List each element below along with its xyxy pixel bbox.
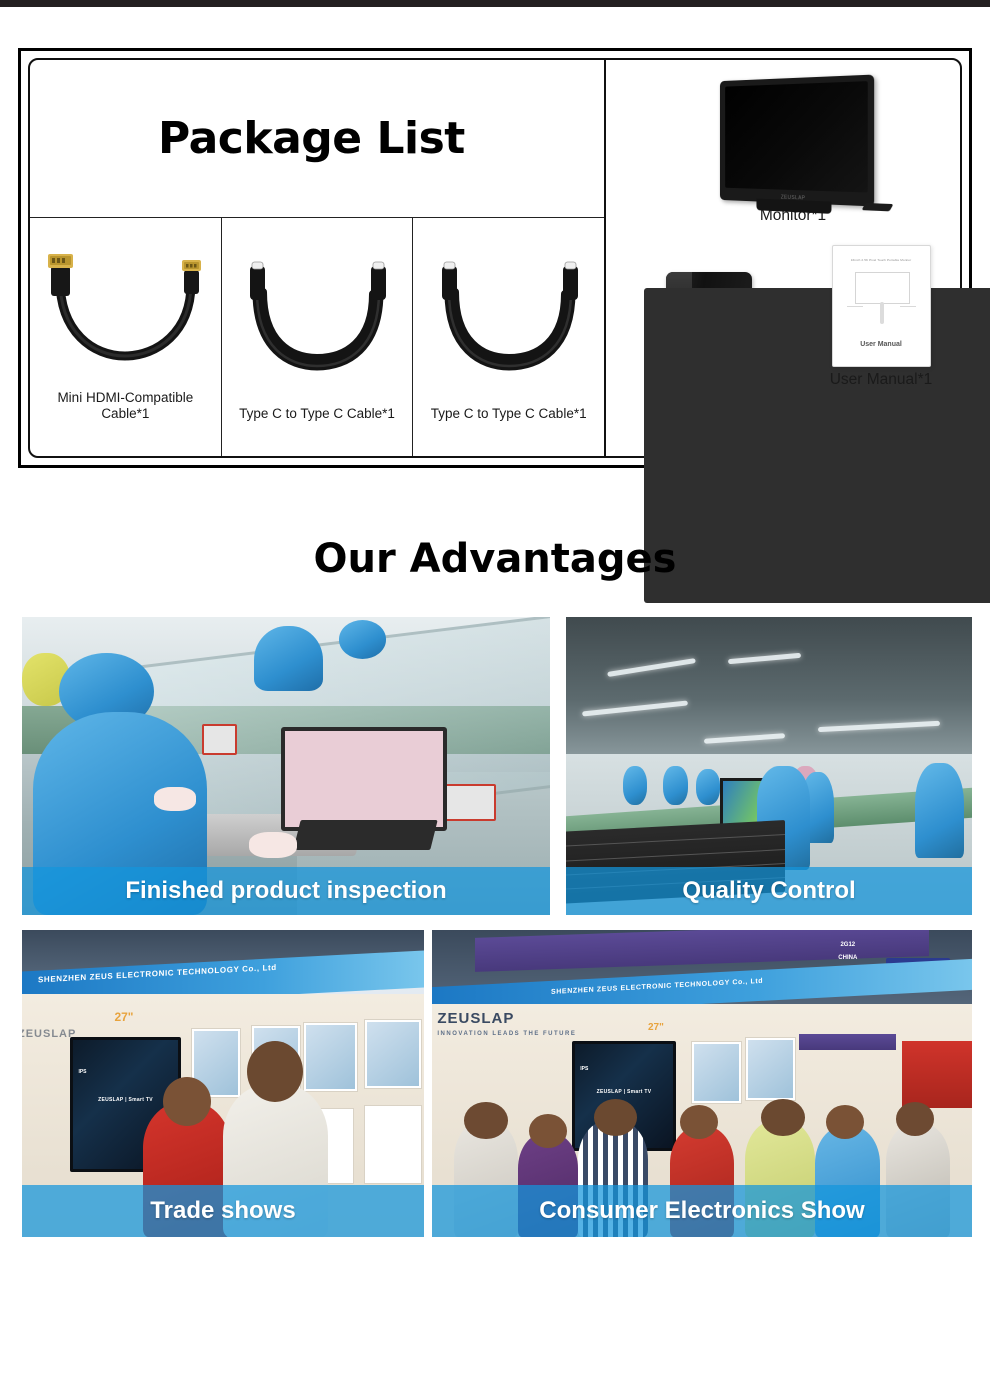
package-item-typec-cable-1: Type C to Type C Cable*1 — [221, 218, 413, 456]
hdmi-cable-icon — [30, 218, 221, 390]
package-item-typec-cable-2: Type C to Type C Cable*1 — [412, 218, 604, 456]
booth-spec-badge: IPS — [78, 1069, 86, 1075]
package-item-label: Type C to Type C Cable*1 — [235, 406, 399, 444]
photo-caption: Consumer Electronics Show — [432, 1185, 972, 1237]
manual-cover-subtitle: 16inch 2.5K Pixel Touch Portable Monitor — [833, 258, 930, 262]
package-item-label: Type C to Type C Cable*1 — [427, 406, 591, 444]
advantage-photo-trade-shows: SHENZHEN ZEUS ELECTRONIC TECHNOLOGY Co.,… — [22, 930, 424, 1237]
package-list-left-column: Package List — [30, 60, 606, 456]
package-list-right-column: ZEUSLAP Monitor*1 Charger*1 16i — [606, 60, 960, 456]
monitor-icon: ZEUSLAP — [720, 75, 874, 207]
booth-brand-logo: ZEUSLAP — [437, 1010, 514, 1027]
booth-size-badge: 27" — [114, 1010, 133, 1024]
photo-caption: Finished product inspection — [22, 867, 550, 915]
advantage-photo-finished-product-inspection: Finished product inspection — [22, 617, 550, 915]
package-list-panel: Package List — [18, 48, 972, 468]
package-list-title-row: Package List — [30, 60, 604, 218]
package-item-monitor: ZEUSLAP Monitor*1 — [698, 78, 888, 225]
package-list-inner-frame: Package List — [28, 58, 962, 458]
manual-icon: 16inch 2.5K Pixel Touch Portable Monitor… — [832, 245, 931, 367]
photo-caption: Quality Control — [566, 867, 972, 915]
package-item-charger: Charger*1 — [616, 260, 776, 377]
manual-cover-title: User Manual — [833, 341, 930, 348]
booth-brand-logo: ZEUSLAP — [22, 1028, 76, 1040]
charger-icon — [636, 260, 756, 355]
booth-tagline: INNOVATION LEADS THE FUTURE — [437, 1031, 576, 1037]
package-item-label: Mini HDMI-Compatible Cable*1 — [30, 390, 221, 444]
photo-caption: Trade shows — [22, 1185, 424, 1237]
advantage-photo-consumer-electronics-show: 2G12 CHINA SHENZHEN ZEUS ELECTRONIC TECH… — [432, 930, 972, 1237]
booth-tv-logo: ZEUSLAP | Smart TV — [98, 1097, 153, 1103]
page-title: Package List — [158, 113, 465, 164]
advantages-title: Our Advantages — [0, 536, 990, 582]
usbc-cable-icon — [413, 218, 604, 406]
package-item-hdmi-cable: Mini HDMI-Compatible Cable*1 — [30, 218, 221, 456]
booth-size-badge: 27" — [648, 1022, 664, 1033]
usbc-cable-icon — [222, 218, 413, 406]
booth-country: CHINA — [810, 955, 886, 961]
booth-hall-code: 2G12 — [810, 942, 886, 948]
advantage-photo-quality-control: Quality Control — [566, 617, 972, 915]
package-item-manual: 16inch 2.5K Pixel Touch Portable Monitor… — [796, 245, 966, 389]
booth-spec-badge: IPS — [580, 1066, 588, 1072]
booth-tv-logo: ZEUSLAP | Smart TV — [597, 1089, 652, 1095]
package-item-label: User Manual*1 — [796, 371, 966, 389]
top-bar — [0, 0, 990, 7]
cable-row: Mini HDMI-Compatible Cable*1 — [30, 218, 604, 456]
